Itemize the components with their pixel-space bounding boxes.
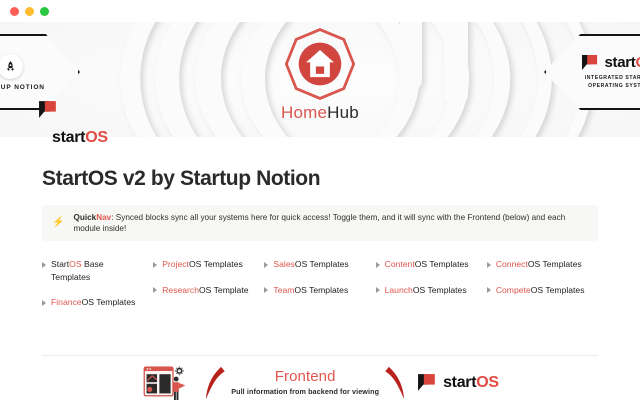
link-item-contentos-templates[interactable]: ContentOS Templates [376, 258, 477, 270]
startos-flag-icon [38, 100, 59, 119]
window-titlebar [0, 0, 640, 22]
startos-brand-mark [38, 100, 59, 119]
brand-start-text: start [52, 129, 85, 146]
toggle-triangle-icon[interactable] [264, 287, 268, 293]
link-column-1: StartOS Base Templates FinanceOS Templat… [42, 258, 153, 321]
right-swoosh-icon [385, 366, 407, 400]
link-label: StartOS Base Templates [51, 258, 143, 283]
toggle-triangle-icon[interactable] [264, 262, 268, 268]
frontend-title: Frontend [231, 369, 379, 386]
link-label: LaunchOS Templates [385, 284, 467, 296]
link-item-researchos-template[interactable]: ResearchOS Template [153, 284, 254, 296]
link-column-5: ConnectOS Templates CompeteOS Templates [487, 258, 598, 321]
startos-logo-start-text: start [604, 54, 635, 71]
startup-notion-label: STARTUP NOTION [0, 84, 45, 91]
link-label: TeamOS Templates [273, 284, 348, 296]
homehub-name-part2: Hub [327, 103, 359, 122]
startos-flag-icon [417, 373, 438, 392]
link-column-4: ContentOS Templates LaunchOS Templates [376, 258, 487, 321]
link-item-salesos-templates[interactable]: SalesOS Templates [264, 258, 365, 270]
startos-logo-right: startOS [581, 54, 640, 71]
maximize-button[interactable] [40, 7, 49, 16]
frontend-title-block: Frontend Pull information from backend f… [231, 369, 379, 396]
frontend-subtitle: Pull information from backend for viewin… [231, 387, 379, 396]
link-label: FinanceOS Templates [51, 296, 135, 308]
startos-brand-wordmark: startOS [52, 129, 108, 147]
quicknav-body-text: : Synced blocks sync all your systems he… [73, 213, 565, 233]
document-body: startOS StartOS v2 by Startup Notion ⚡ Q… [0, 137, 640, 400]
left-swoosh-icon [203, 366, 225, 400]
link-item-competeos-templates[interactable]: CompeteOS Templates [487, 284, 588, 296]
home-icon [279, 26, 361, 102]
toggle-triangle-icon[interactable] [153, 287, 157, 293]
page-title: StartOS v2 by Startup Notion [42, 167, 598, 191]
dashboard-person-illustration [141, 363, 189, 400]
toggle-triangle-icon[interactable] [153, 262, 157, 268]
startos-badge-subtitle: INTEGRATED STARTUP OPERATING SYSTEM [585, 75, 640, 90]
startos-badge-subtitle-line2: OPERATING SYSTEM [588, 83, 640, 89]
close-button[interactable] [10, 7, 19, 16]
footer-logo-os-text: OS [476, 374, 499, 391]
link-item-startos-base-templates[interactable]: StartOS Base Templates [42, 258, 143, 283]
startos-badge-subtitle-line1: INTEGRATED STARTUP [585, 75, 640, 81]
quicknav-link-columns: StartOS Base Templates FinanceOS Templat… [42, 258, 598, 321]
startos-flag-icon [581, 54, 600, 71]
link-label: CompeteOS Templates [496, 284, 585, 296]
startos-logo-footer: startOS [417, 373, 499, 392]
toggle-triangle-icon[interactable] [376, 262, 380, 268]
link-label: ContentOS Templates [385, 258, 469, 270]
footer-divider [42, 355, 598, 356]
homehub-logo: HomeHub [279, 26, 361, 123]
link-label: SalesOS Templates [273, 258, 348, 270]
toggle-triangle-icon[interactable] [42, 300, 46, 306]
link-label: ConnectOS Templates [496, 258, 582, 270]
toggle-triangle-icon[interactable] [42, 262, 46, 268]
link-item-launchos-templates[interactable]: LaunchOS Templates [376, 284, 477, 296]
link-column-3: SalesOS Templates TeamOS Templates [264, 258, 375, 321]
homehub-wordmark: HomeHub [281, 103, 359, 123]
footer-logo-start-text: start [443, 374, 476, 391]
quicknav-callout-text: QuickNav: Synced blocks sync all your sy… [73, 212, 588, 234]
homehub-name-part1: Home [281, 103, 327, 122]
link-column-2: ProjectOS Templates ResearchOS Template [153, 258, 264, 321]
toggle-triangle-icon[interactable] [487, 262, 491, 268]
lightning-bolt-icon: ⚡ [52, 218, 64, 228]
hero-banner: STARTUP NOTION startOS INTEGRATED STARTU… [0, 22, 640, 137]
rocket-icon [0, 54, 23, 79]
startos-logo-os-text: OS [635, 54, 640, 71]
quicknav-label-bold: Quick [73, 213, 96, 222]
traffic-light-buttons [10, 7, 49, 16]
link-item-teamos-templates[interactable]: TeamOS Templates [264, 284, 365, 296]
link-label: ProjectOS Templates [162, 258, 243, 270]
link-item-connectos-templates[interactable]: ConnectOS Templates [487, 258, 588, 270]
toggle-triangle-icon[interactable] [487, 287, 491, 293]
quicknav-label-accent: Nav [96, 213, 111, 222]
brand-os-text: OS [85, 129, 108, 146]
minimize-button[interactable] [25, 7, 34, 16]
frontend-footer-banner: Frontend Pull information from backend f… [0, 365, 640, 400]
toggle-triangle-icon[interactable] [376, 287, 380, 293]
quicknav-callout: ⚡ QuickNav: Synced blocks sync all your … [42, 205, 598, 241]
link-label: ResearchOS Template [162, 284, 248, 296]
link-item-financeos-templates[interactable]: FinanceOS Templates [42, 296, 143, 308]
link-item-projectos-templates[interactable]: ProjectOS Templates [153, 258, 254, 270]
